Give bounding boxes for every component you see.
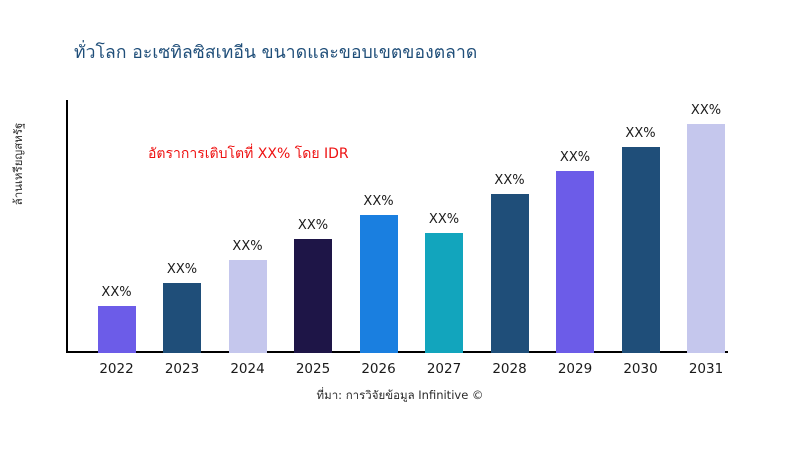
x-axis-tick-2028: 2028 <box>492 361 526 377</box>
bar-group: XX%2031 <box>674 100 739 353</box>
bar-2028[interactable] <box>491 194 529 353</box>
bar-value-label: XX% <box>167 262 197 277</box>
x-axis-tick-2030: 2030 <box>623 361 657 377</box>
bar-group: XX%2030 <box>608 100 673 353</box>
bar-value-label: XX% <box>429 212 459 227</box>
source-note: ที่มา: การวิจัยข้อมูล Infinitive © <box>0 387 800 405</box>
bar-2030[interactable] <box>622 147 660 353</box>
x-axis-tick-2024: 2024 <box>230 361 264 377</box>
bar-2025[interactable] <box>294 239 332 353</box>
bar-2026[interactable] <box>360 215 398 353</box>
bar-2029[interactable] <box>556 171 594 353</box>
bar-value-label: XX% <box>101 285 131 300</box>
x-axis-tick-2022: 2022 <box>99 361 133 377</box>
chart-title: ทั่วโลก อะเซทิลซิสเทอีน ขนาดและขอบเขตของ… <box>74 41 754 65</box>
bar-group: XX%2026 <box>346 100 411 353</box>
chart-container: ทั่วโลก อะเซทิลซิสเทอีน ขนาดและขอบเขตของ… <box>0 0 800 450</box>
x-axis-tick-2031: 2031 <box>689 361 723 377</box>
bar-group: XX%2024 <box>215 100 280 353</box>
bar-2023[interactable] <box>163 283 201 353</box>
bar-2031[interactable] <box>687 124 725 353</box>
bar-value-label: XX% <box>363 194 393 209</box>
bar-value-label: XX% <box>494 173 524 188</box>
bar-group: XX%2029 <box>543 100 608 353</box>
bar-value-label: XX% <box>625 126 655 141</box>
x-axis-tick-2027: 2027 <box>427 361 461 377</box>
bar-value-label: XX% <box>691 103 721 118</box>
bar-2022[interactable] <box>98 306 136 353</box>
plot-area: XX%2022XX%2023XX%2024XX%2025XX%2026XX%20… <box>66 100 776 353</box>
growth-rate-annotation: อัตราการเติบโตที่ XX% โดย IDR <box>148 143 349 165</box>
bar-2027[interactable] <box>425 233 463 353</box>
bar-group: XX%2027 <box>412 100 477 353</box>
x-axis-tick-2023: 2023 <box>165 361 199 377</box>
bar-value-label: XX% <box>232 239 262 254</box>
bar-group: XX%2022 <box>84 100 149 353</box>
bar-group: XX%2023 <box>150 100 215 353</box>
x-axis-tick-2025: 2025 <box>296 361 330 377</box>
bar-group: XX%2025 <box>281 100 346 353</box>
bar-group: XX%2028 <box>477 100 542 353</box>
y-axis-label: ล้านเหรียญสหรัฐ <box>10 104 28 224</box>
bar-value-label: XX% <box>560 150 590 165</box>
bar-2024[interactable] <box>229 260 267 353</box>
x-axis-tick-2026: 2026 <box>361 361 395 377</box>
x-axis-tick-2029: 2029 <box>558 361 592 377</box>
bar-value-label: XX% <box>298 218 328 233</box>
